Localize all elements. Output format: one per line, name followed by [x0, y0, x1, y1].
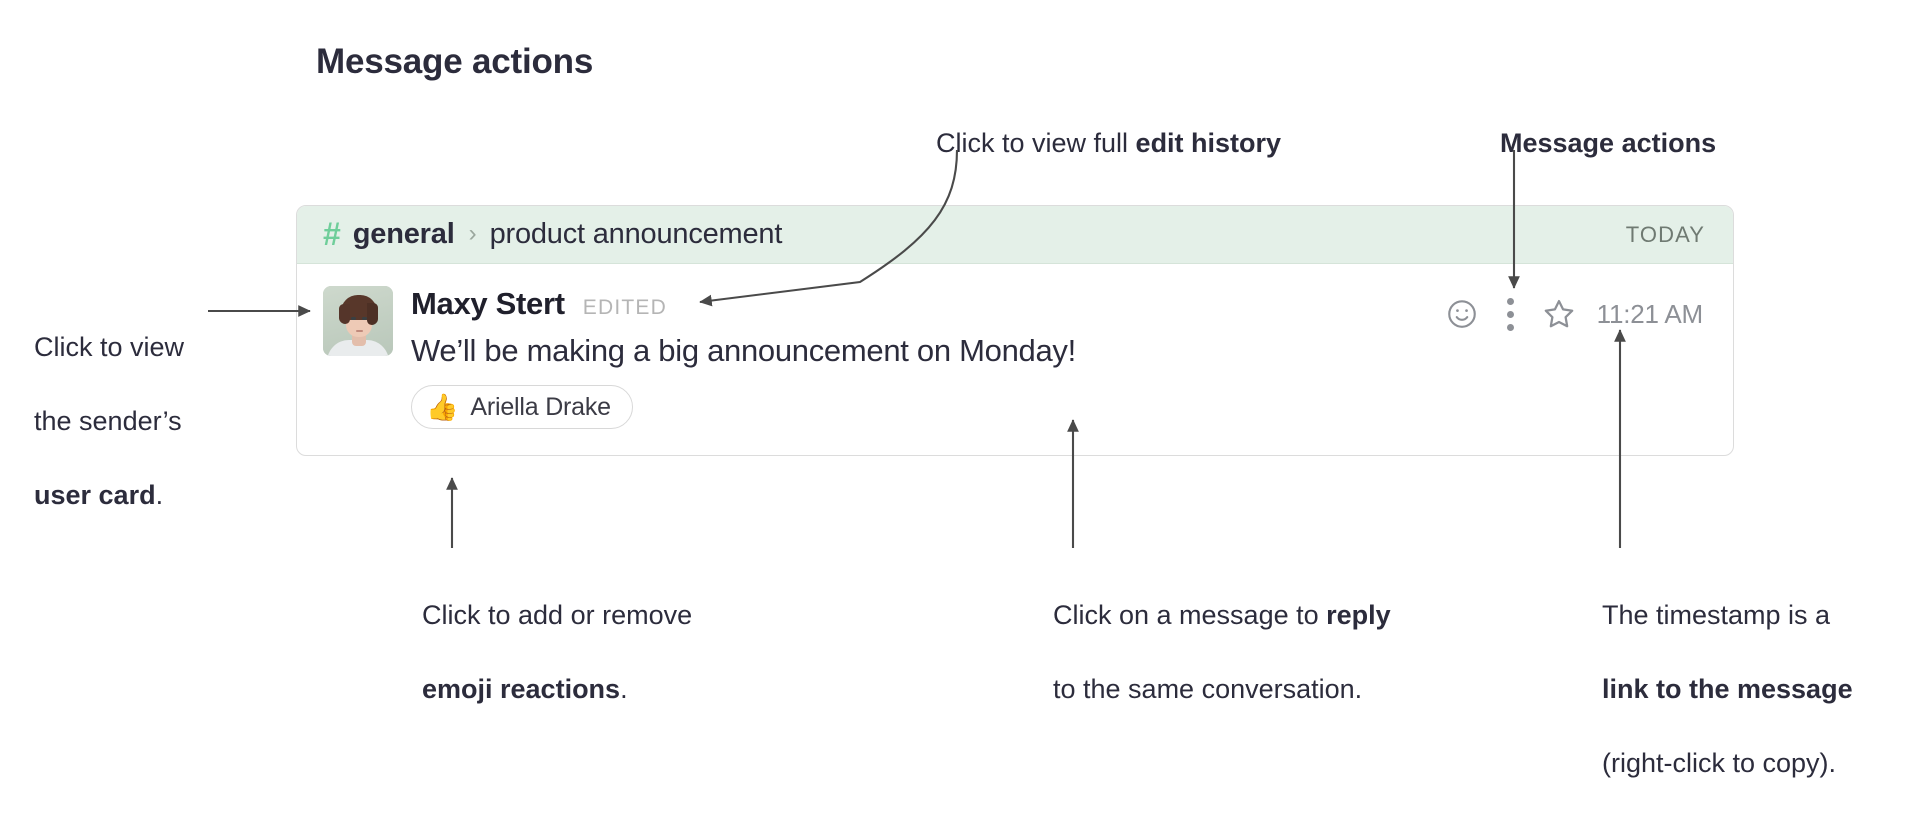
user-card-annotation-line1: Click to view: [34, 329, 274, 366]
emoji-reactions-annotation-emphasis: emoji reactions: [422, 674, 620, 704]
hash-icon: #: [323, 218, 341, 250]
avatar-mouth: [356, 330, 363, 332]
reply-annotation-text: Click on a message to: [1053, 600, 1326, 630]
page-title: Message actions: [316, 42, 593, 82]
message-text[interactable]: We’ll be making a big announcement on Mo…: [411, 333, 1705, 369]
user-card-annotation-period: .: [156, 480, 164, 510]
timestamp-link-annotation-emphasis: link to the message: [1602, 674, 1853, 704]
reply-annotation-line2: to the same conversation.: [1053, 671, 1391, 708]
timestamp-link-annotation-line2: link to the message: [1602, 671, 1853, 708]
avatar-hair-right: [367, 303, 378, 325]
timestamp-link-annotation: The timestamp is a link to the message (…: [1602, 560, 1853, 819]
edited-badge[interactable]: EDITED: [583, 296, 667, 320]
chevron-right-icon: ›: [469, 220, 477, 248]
avatar-hair-left: [339, 304, 350, 324]
timestamp-link-annotation-line3: (right-click to copy).: [1602, 745, 1853, 782]
edit-history-annotation-text: Click to view full: [936, 128, 1136, 158]
sender-name[interactable]: Maxy Stert: [411, 286, 565, 322]
edit-history-annotation-emphasis: edit history: [1136, 128, 1282, 158]
user-card-annotation-line3: user card.: [34, 477, 274, 514]
emoji-reactions-annotation-period: .: [620, 674, 628, 704]
stream-name[interactable]: general: [353, 218, 455, 251]
reply-annotation: Click on a message to reply to the same …: [1053, 560, 1391, 745]
topic-name[interactable]: product announcement: [490, 218, 783, 251]
reaction-user-name: Ariella Drake: [470, 393, 611, 422]
date-label[interactable]: TODAY: [1626, 222, 1705, 248]
message-timestamp[interactable]: 11:21 AM: [1597, 299, 1703, 330]
user-card-annotation: Click to view the sender’s user card.: [34, 292, 274, 551]
message-actions-menu-annotation-emphasis: Message actions: [1500, 128, 1716, 158]
edit-history-annotation-line1: Click to view full edit history: [936, 125, 1281, 162]
kebab-dot-top: [1507, 298, 1514, 305]
reply-annotation-line1: Click on a message to reply: [1053, 597, 1391, 634]
message-actions: 11:21 AM: [1445, 296, 1703, 332]
avatar-eye-right: [362, 317, 367, 320]
emoji-picker-icon[interactable]: [1445, 297, 1479, 331]
reaction-row: 👍 Ariella Drake: [411, 385, 1705, 429]
emoji-reactions-annotation: Click to add or remove emoji reactions.: [422, 560, 692, 745]
emoji-reactions-annotation-line2: emoji reactions.: [422, 671, 692, 708]
message-actions-menu-annotation-line1: Message actions: [1500, 125, 1716, 162]
timestamp-link-annotation-line1: The timestamp is a: [1602, 597, 1853, 634]
reaction-pill[interactable]: 👍 Ariella Drake: [411, 385, 633, 429]
message-card-header: # general › product announcement TODAY: [297, 206, 1733, 264]
page-root: Message actions Click to view full edit …: [0, 0, 1924, 696]
avatar[interactable]: [323, 286, 393, 356]
emoji-reactions-annotation-line1: Click to add or remove: [422, 597, 692, 634]
avatar-eye-left: [351, 317, 356, 320]
reply-annotation-emphasis: reply: [1326, 600, 1391, 630]
message-card[interactable]: # general › product announcement TODAY: [296, 205, 1734, 456]
kebab-dot-bottom: [1507, 324, 1514, 331]
kebab-dot-middle: [1507, 311, 1514, 318]
user-card-annotation-line2: the sender’s: [34, 403, 274, 440]
message-row[interactable]: Maxy Stert EDITED We’ll be making a big …: [297, 264, 1733, 429]
thumbs-up-emoji: 👍: [426, 394, 458, 420]
user-card-annotation-emphasis: user card: [34, 480, 156, 510]
kebab-menu-icon[interactable]: [1507, 297, 1515, 331]
star-icon[interactable]: [1541, 296, 1577, 332]
